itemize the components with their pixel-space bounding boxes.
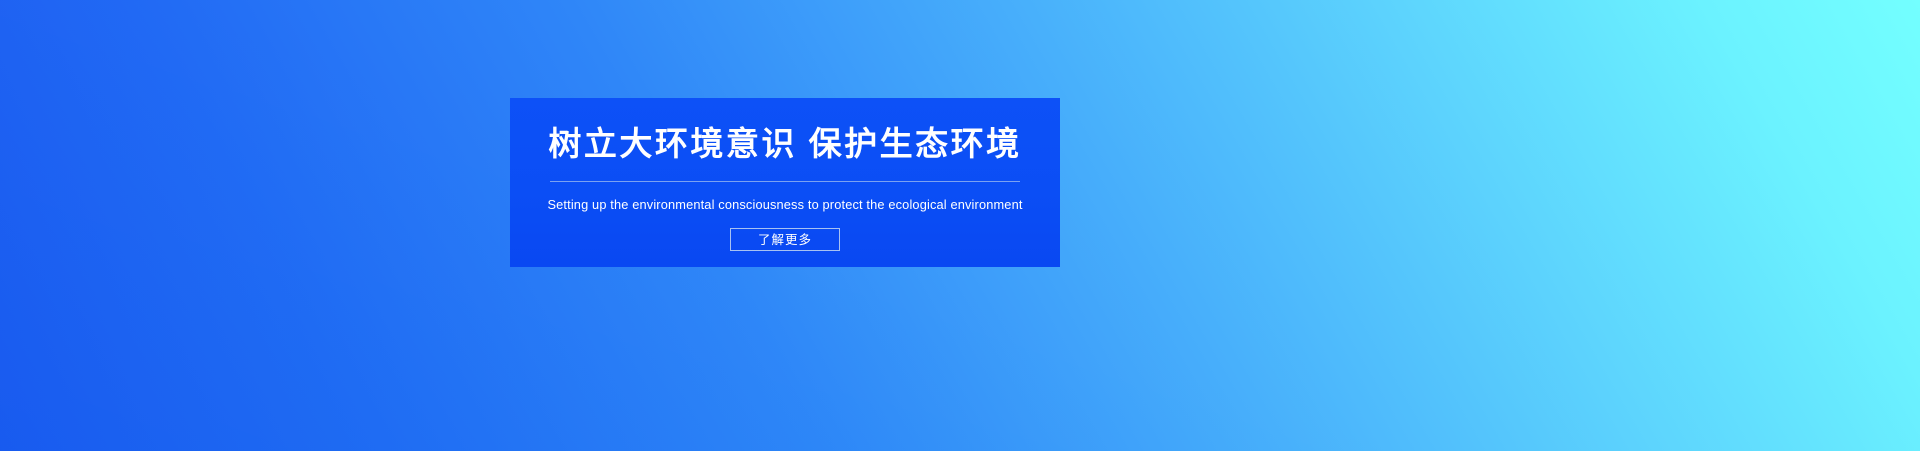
hero-banner: 树立大环境意识 保护生态环境 Setting up the environmen… xyxy=(0,0,1920,451)
learn-more-button[interactable]: 了解更多 xyxy=(730,228,840,251)
hero-subtitle: Setting up the environmental consciousne… xyxy=(547,197,1022,212)
hero-headline: 树立大环境意识 保护生态环境 xyxy=(548,126,1021,162)
hero-card: 树立大环境意识 保护生态环境 Setting up the environmen… xyxy=(510,98,1060,267)
headline-divider xyxy=(550,181,1020,182)
